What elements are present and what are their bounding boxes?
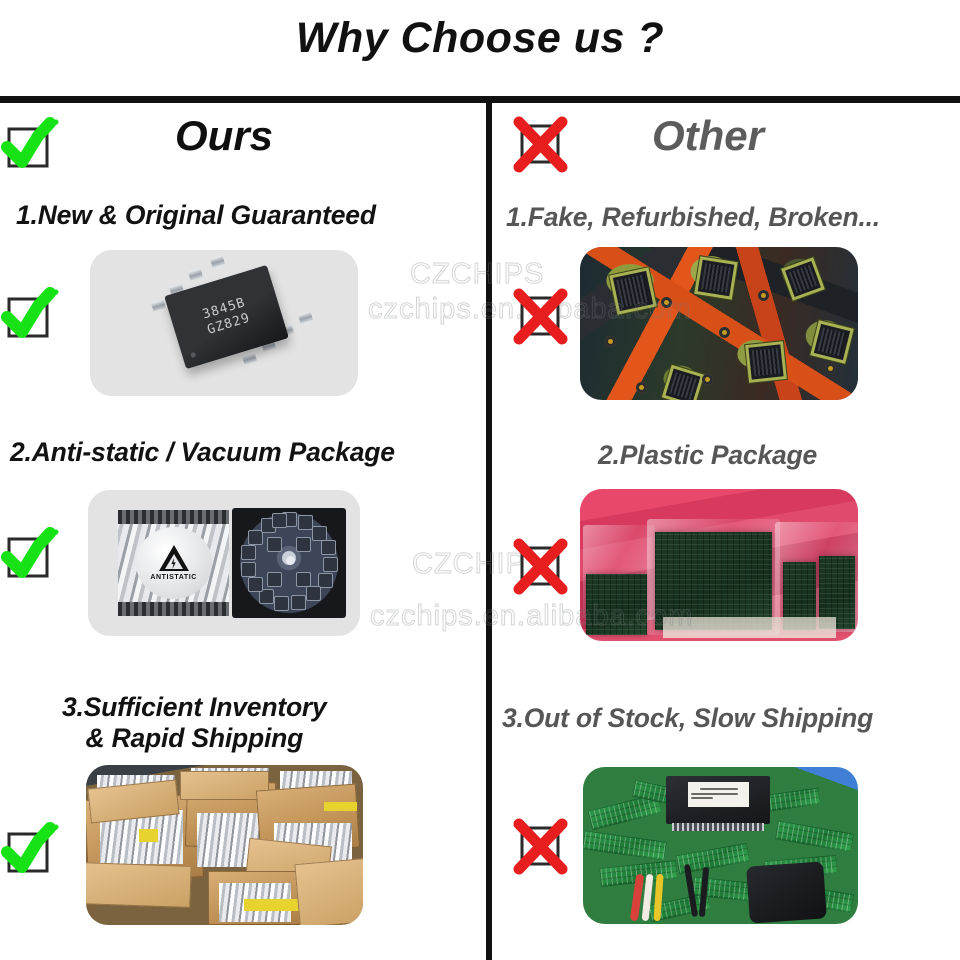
image-card-antistatic-vacuum-package: ANTISTATIC: [88, 490, 360, 636]
scrap-chips-photo: [580, 247, 858, 400]
antistatic-vacuum-package-photo: ANTISTATIC: [88, 490, 360, 636]
cross-mark-icon: [516, 290, 560, 334]
feature-label-right-1: 1.Fake, Refurbished, Broken...: [506, 202, 880, 233]
feature-label-right-3: 3.Out of Stock, Slow Shipping: [502, 703, 873, 734]
header-divider: [0, 96, 960, 103]
black-enclosure: [746, 862, 827, 924]
column-heading-ours: Ours: [175, 112, 273, 160]
esd-warning-triangle-icon: [159, 545, 189, 571]
feature-label-left-1: 1.New & Original Guaranteed: [16, 200, 376, 231]
pcb-scrap-heap-photo: [583, 767, 858, 924]
antistatic-bag-label: ANTISTATIC: [150, 574, 197, 581]
check-mark-icon: [6, 530, 50, 574]
antistatic-disc-label: ANTISTATIC: [136, 527, 212, 598]
watermark-brand: CZCHIPS: [410, 258, 544, 291]
module-label: [688, 782, 749, 806]
check-mark-icon: [6, 290, 50, 334]
image-card-scrap-chips: [580, 247, 858, 400]
new-original-chip-photo: 3845B GZ829: [90, 250, 358, 396]
vacuum-sealed-reel: [232, 508, 346, 619]
feature-label-left-3: 3.Sufficient Inventory & Rapid Shipping: [62, 692, 327, 753]
image-card-inventory-cartons: [86, 765, 363, 925]
image-card-pcb-scrap-heap: [583, 767, 858, 924]
check-mark-icon: [6, 120, 50, 164]
page-title: Why Choose us ?: [0, 14, 960, 63]
image-card-new-original-chip: 3845B GZ829: [90, 250, 358, 396]
inventory-cartons-photo: [86, 765, 363, 925]
column-divider: [486, 100, 492, 960]
antistatic-bag: ANTISTATIC: [118, 510, 230, 615]
black-module: [666, 776, 771, 823]
cross-mark-icon: [516, 820, 560, 864]
cross-mark-icon: [516, 118, 560, 162]
column-heading-other: Other: [652, 112, 764, 160]
plastic-package-photo: [580, 489, 858, 641]
check-mark-icon: [6, 825, 50, 869]
feature-label-right-2: 2.Plastic Package: [598, 440, 817, 471]
image-card-plastic-package: [580, 489, 858, 641]
cross-mark-icon: [516, 540, 560, 584]
feature-label-left-2: 2.Anti-static / Vacuum Package: [10, 437, 395, 468]
